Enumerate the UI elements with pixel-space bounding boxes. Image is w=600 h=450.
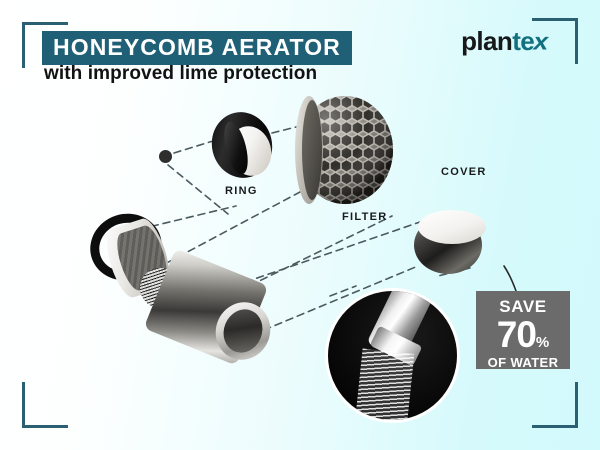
badge-number: 70	[497, 314, 536, 355]
infographic-canvas: HONEYCOMB AERATOR with improved lime pro…	[0, 0, 600, 450]
assembled-aerator	[88, 206, 268, 376]
part-filter	[297, 96, 393, 204]
faucet-water-photo	[325, 288, 460, 423]
callout-origin-dot	[159, 150, 172, 163]
cover-band-icon	[418, 210, 486, 244]
part-label-ring: RING	[225, 185, 258, 197]
badge-top-label: SAVE	[476, 298, 570, 315]
part-label-cover: COVER	[441, 166, 487, 178]
filter-inner-rim-icon	[302, 100, 322, 200]
water-stream-icon	[354, 349, 415, 423]
badge-value: 70%	[476, 316, 570, 353]
badge-percent-sign: %	[536, 334, 549, 351]
status-badge: SAVE 70% OF WATER	[476, 291, 570, 369]
part-label-filter: FILTER	[342, 211, 387, 223]
part-cover	[414, 196, 488, 274]
part-ring	[212, 112, 272, 178]
badge-bottom-label: OF WATER	[476, 356, 570, 369]
